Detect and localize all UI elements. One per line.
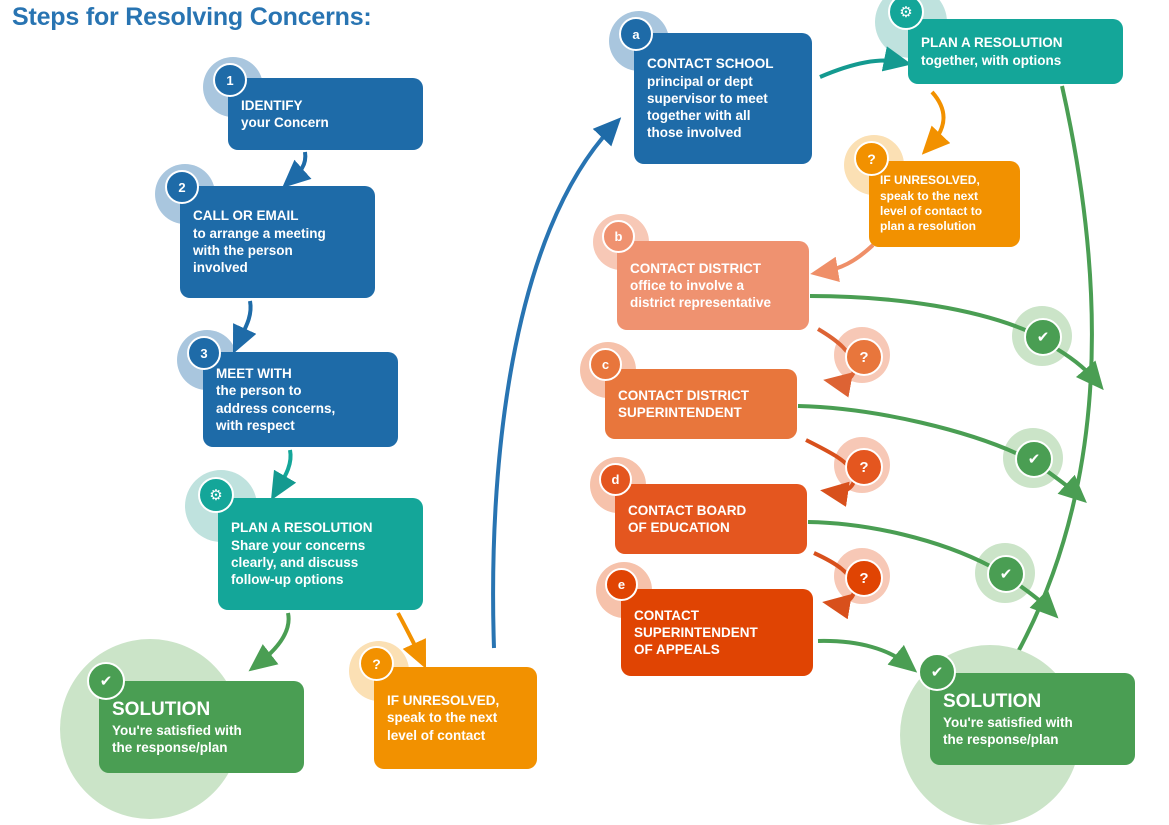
badge-contact-appeals-label: e	[618, 577, 625, 592]
badge-step-2-label: 2	[178, 180, 185, 195]
node-call-or-email-line-2: involved	[193, 259, 362, 276]
question-marker-d-to-e: ?	[845, 559, 883, 597]
question-icon: ?	[859, 570, 868, 587]
page-title: Steps for Resolving Concerns:	[12, 3, 372, 32]
arrow-e-to-right-solution	[818, 641, 908, 665]
badge-step-2: 2	[165, 170, 199, 204]
badge-step-3-label: 3	[200, 346, 207, 361]
node-contact-superintendent-of-appeals[interactable]: CONTACT SUPERINTENDENT OF APPEALS	[621, 589, 813, 676]
node-call-or-email-line-1: with the person	[193, 242, 362, 259]
node-left-plan-line-1: clearly, and discuss	[231, 554, 410, 571]
node-right-solution[interactable]: SOLUTION You're satisfied with the respo…	[930, 673, 1135, 765]
question-icon: ?	[372, 656, 381, 672]
node-right-plan-title: PLAN A RESOLUTION	[921, 34, 1110, 51]
arrow-identify-to-call	[291, 152, 305, 180]
check-icon: ✔	[931, 665, 944, 680]
node-right-plan-resolution[interactable]: PLAN A RESOLUTION together, with options	[908, 19, 1123, 84]
badge-left-unresolved-question: ?	[359, 646, 394, 681]
node-left-plan-line-0: Share your concerns	[231, 537, 410, 554]
node-meet-with-line-0: the person to	[216, 382, 385, 399]
badge-left-solution-check: ✔	[87, 662, 125, 700]
node-contact-school-line-1: supervisor to meet	[647, 90, 799, 107]
node-contact-appeals-title: CONTACT	[634, 607, 800, 624]
node-call-or-email[interactable]: CALL OR EMAIL to arrange a meeting with …	[180, 186, 375, 298]
node-right-solution-line-1: the response/plan	[943, 731, 1122, 748]
node-left-solution-line-0: You're satisfied with	[112, 722, 291, 739]
node-contact-school-line-3: those involved	[647, 124, 799, 141]
node-left-unresolved[interactable]: IF UNRESOLVED, speak to the next level o…	[374, 667, 537, 769]
node-right-solution-line-0: You're satisfied with	[943, 714, 1122, 731]
node-contact-district[interactable]: CONTACT DISTRICT office to involve a dis…	[617, 241, 809, 330]
node-meet-with-line-2: with respect	[216, 417, 385, 434]
badge-contact-board: d	[599, 463, 632, 496]
badge-contact-district: b	[602, 220, 635, 253]
badge-contact-school-label: a	[632, 27, 639, 42]
arrow-meet-to-plan	[277, 450, 291, 490]
node-right-unresolved[interactable]: IF UNRESOLVED, speak to the next level o…	[869, 161, 1020, 247]
node-right-unresolved-title: IF UNRESOLVED,	[880, 173, 1009, 188]
node-identify-title: IDENTIFY	[241, 97, 410, 114]
arrow-unresolved-to-contact-district	[822, 245, 873, 272]
gear-icon: ⚙	[899, 5, 912, 20]
badge-step-3: 3	[187, 336, 221, 370]
node-left-unresolved-title: IF UNRESOLVED,	[387, 692, 524, 709]
node-right-plan-line-0: together, with options	[921, 52, 1110, 69]
node-contact-district-line-0: office to involve a	[630, 277, 796, 294]
badge-contact-board-label: d	[612, 472, 620, 487]
diagram-canvas: Steps for Resolving Concerns:	[0, 0, 1169, 825]
question-marker-c-to-d: ?	[845, 448, 883, 486]
badge-right-unresolved-question: ?	[854, 141, 889, 176]
node-contact-board-of-education[interactable]: CONTACT BOARD OF EDUCATION	[615, 484, 807, 554]
question-marker-b-to-c: ?	[845, 338, 883, 376]
node-left-plan-resolution[interactable]: PLAN A RESOLUTION Share your concerns cl…	[218, 498, 423, 610]
node-left-plan-title: PLAN A RESOLUTION	[231, 519, 410, 536]
badge-contact-appeals: e	[605, 568, 638, 601]
node-contact-school[interactable]: CONTACT SCHOOL principal or dept supervi…	[634, 33, 812, 164]
badge-right-solution-check: ✔	[918, 653, 956, 691]
node-contact-district-title: CONTACT DISTRICT	[630, 260, 796, 277]
badge-contact-district-label: b	[615, 229, 623, 244]
node-meet-with[interactable]: MEET WITH the person to address concerns…	[203, 352, 398, 447]
gear-icon: ⚙	[209, 488, 222, 503]
check-marker-c: ✔	[1015, 440, 1053, 478]
check-icon: ✔	[1028, 452, 1041, 467]
check-marker-d: ✔	[987, 555, 1025, 593]
question-icon: ?	[859, 459, 868, 476]
node-right-unresolved-line-2: plan a resolution	[880, 219, 1009, 234]
arrow-plan-to-right-unresolved	[930, 92, 944, 146]
arrow-b-to-check	[810, 296, 1030, 332]
node-contact-district-superintendent[interactable]: CONTACT DISTRICT SUPERINTENDENT	[605, 369, 797, 439]
node-contact-appeals-line-1: OF APPEALS	[634, 641, 800, 658]
arrow-call-to-meet	[238, 301, 251, 343]
check-icon: ✔	[1037, 330, 1050, 345]
node-contact-school-line-2: together with all	[647, 107, 799, 124]
check-marker-b: ✔	[1024, 318, 1062, 356]
question-icon: ?	[867, 151, 876, 167]
badge-step-1: 1	[213, 63, 247, 97]
node-contact-board-title: CONTACT BOARD	[628, 502, 794, 519]
node-contact-district-superintendent-line-0: SUPERINTENDENT	[618, 404, 784, 421]
node-meet-with-line-1: address concerns,	[216, 400, 385, 417]
node-left-unresolved-line-0: speak to the next	[387, 709, 524, 726]
node-contact-appeals-line-0: SUPERINTENDENT	[634, 624, 800, 641]
arrow-contact-school-to-plan	[820, 61, 900, 77]
node-contact-school-title: CONTACT SCHOOL	[647, 55, 799, 72]
node-call-or-email-line-0: to arrange a meeting	[193, 225, 362, 242]
node-right-unresolved-line-0: speak to the next	[880, 189, 1009, 204]
node-contact-school-line-0: principal or dept	[647, 73, 799, 90]
node-left-solution[interactable]: SOLUTION You're satisfied with the respo…	[99, 681, 304, 773]
node-identify-line-0: your Concern	[241, 114, 410, 131]
node-meet-with-title: MEET WITH	[216, 365, 385, 382]
node-contact-district-superintendent-title: CONTACT DISTRICT	[618, 387, 784, 404]
badge-contact-superintendent: c	[589, 348, 622, 381]
arrow-c-to-check	[798, 406, 1018, 454]
arrow-d-to-check	[808, 522, 990, 566]
node-left-unresolved-line-1: level of contact	[387, 727, 524, 744]
node-right-unresolved-line-1: level of contact to	[880, 204, 1009, 219]
node-left-solution-title: SOLUTION	[112, 698, 291, 722]
node-call-or-email-title: CALL OR EMAIL	[193, 207, 362, 224]
node-right-solution-title: SOLUTION	[943, 690, 1122, 714]
check-icon: ✔	[100, 674, 113, 689]
badge-contact-superintendent-label: c	[602, 357, 609, 372]
node-identify[interactable]: IDENTIFY your Concern	[228, 78, 423, 150]
badge-contact-school: a	[619, 17, 653, 51]
check-icon: ✔	[1000, 567, 1013, 582]
node-contact-board-line-0: OF EDUCATION	[628, 519, 794, 536]
question-icon: ?	[859, 349, 868, 366]
node-left-solution-line-1: the response/plan	[112, 739, 291, 756]
arrow-plan-to-left-solution	[258, 613, 289, 664]
badge-left-plan-gear: ⚙	[198, 477, 234, 513]
node-contact-district-line-1: district representative	[630, 294, 796, 311]
node-left-plan-line-2: follow-up options	[231, 571, 410, 588]
badge-step-1-label: 1	[226, 73, 233, 88]
